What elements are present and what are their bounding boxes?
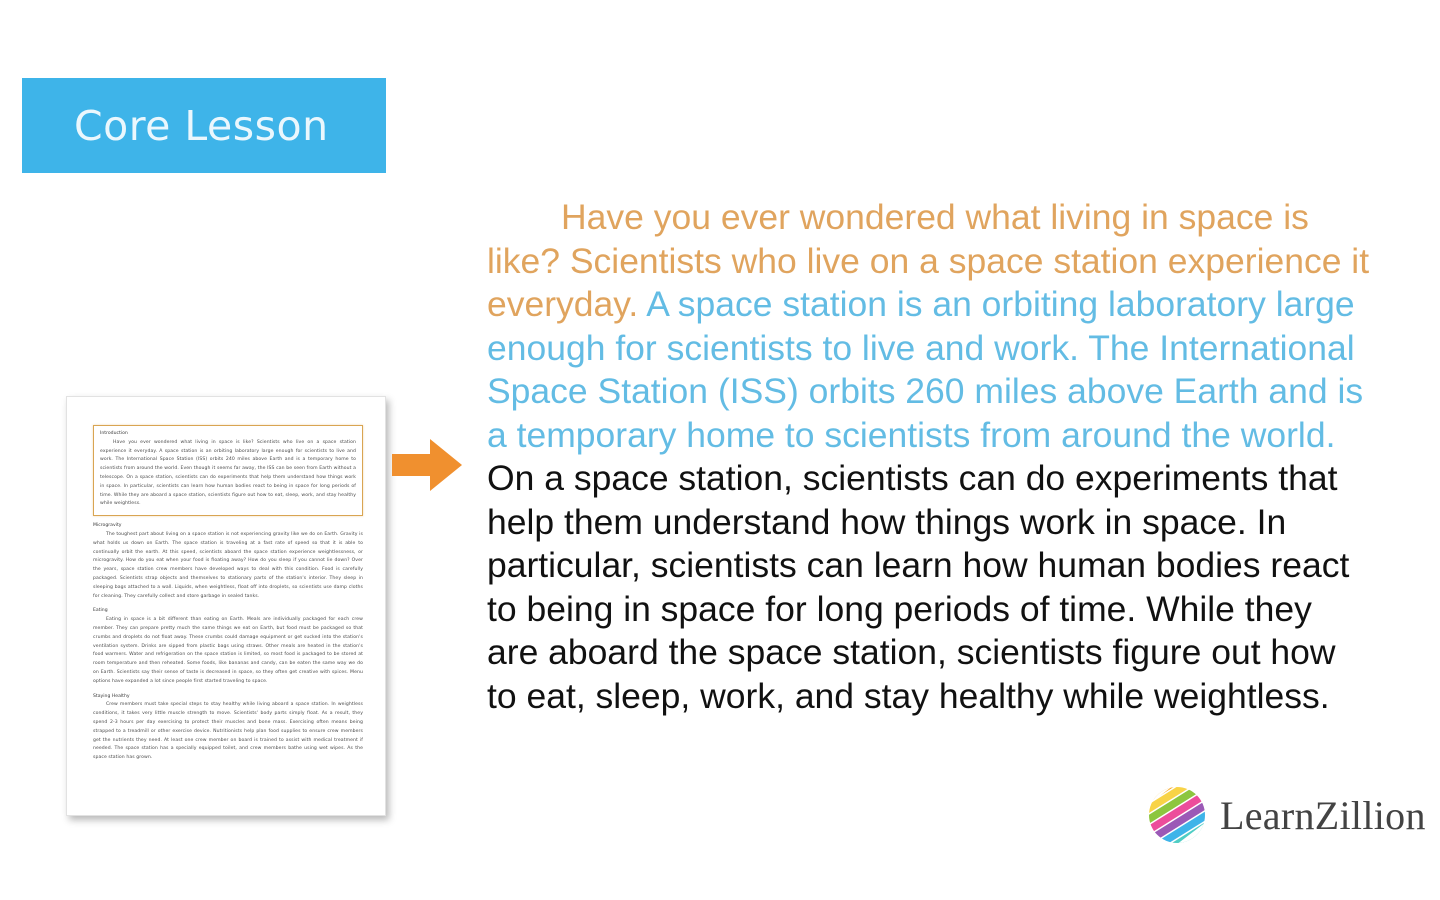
lesson-passage: Have you ever wondered what living in sp… [487,196,1371,718]
document-section-eating: Eating Eating in space is a bit differen… [93,608,363,686]
document-section-introduction: Introduction Have you ever wondered what… [93,425,363,516]
document-paragraph: Have you ever wondered what living in sp… [100,439,356,510]
right-arrow-icon [392,437,464,493]
document-paragraph: Crew members must take special steps to … [93,701,363,763]
document-page-content: Introduction Have you ever wondered what… [93,425,363,805]
document-heading: Eating [93,608,363,614]
document-section-staying-healthy: Staying Healthy Crew members must take s… [93,694,363,763]
document-heading: Staying Healthy [93,694,363,700]
document-paragraph: Eating in space is a bit different than … [93,616,363,687]
learnzillion-mark-icon [1148,786,1206,844]
learnzillion-logo[interactable]: LearnZillion [1148,784,1426,846]
source-document-thumbnail[interactable]: Introduction Have you ever wondered what… [66,396,386,816]
document-heading: Introduction [100,431,356,437]
document-paragraph: The toughest part about living on a spac… [93,531,363,602]
document-section-microgravity: Microgravity The toughest part about liv… [93,523,363,601]
passage-segment-black: On a space station, scientists can do ex… [487,458,1349,716]
document-heading: Microgravity [93,523,363,529]
learnzillion-wordmark: LearnZillion [1220,792,1426,839]
page-title: Core Lesson [22,102,329,150]
core-lesson-banner: Core Lesson [22,78,386,173]
